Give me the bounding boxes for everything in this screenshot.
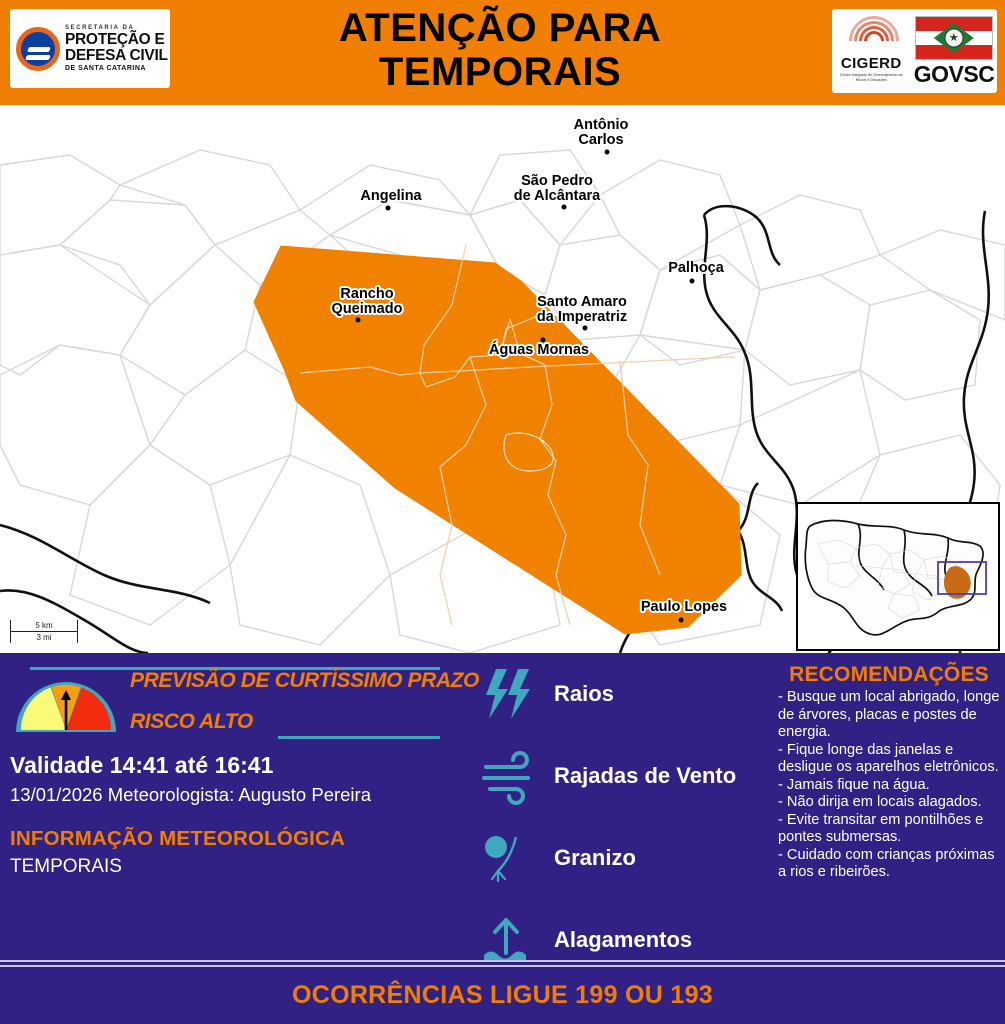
city-dot	[541, 338, 546, 343]
forecast-type-label: PREVISÃO DE CURTÍSSIMO PRAZO	[130, 669, 479, 693]
city-label: AntônioCarlos	[574, 118, 629, 148]
city-dot	[583, 326, 588, 331]
inset-locator-map	[796, 502, 1000, 651]
city-label: Angelina	[360, 189, 421, 204]
hazard-list: Raios Rajadas de Vento	[482, 667, 762, 995]
alert-area-polygon	[254, 246, 741, 634]
recommendation-item: - Não dirija em locais alagados.	[778, 794, 1000, 812]
city-label: São Pedrode Alcântara	[514, 174, 601, 204]
recommendation-item: - Jamais fique na água.	[778, 777, 1000, 795]
city-label: Águas Mornas	[489, 343, 589, 358]
city-label: Paulo Lopes	[641, 600, 727, 615]
page-title-line-1: ATENÇÃO PARA	[190, 6, 810, 50]
recommendations-title: RECOMENDAÇÕES	[778, 663, 1000, 687]
emergency-phone-text: OCORRÊNCIAS LIGUE 199 OU 193	[292, 981, 713, 1010]
recommendation-item: - Busque um local abrigado, longe de árv…	[778, 689, 1000, 742]
scale-km: 5 km	[11, 620, 77, 632]
defesa-civil-logo: SECRETARIA DA PROTEÇÃO E DEFESA CIVIL DE…	[10, 9, 170, 88]
city-dot	[356, 318, 361, 323]
logo-line-estado: DE SANTA CATARINA	[65, 65, 168, 72]
met-info-heading: INFORMAÇÃO METEOROLÓGICA	[10, 827, 345, 851]
hazard-label: Rajadas de Vento	[554, 763, 736, 789]
risk-underline	[278, 736, 440, 739]
govsc-text: GOVSC	[914, 63, 994, 86]
weather-alert-page: SECRETARIA DA PROTEÇÃO E DEFESA CIVIL DE…	[0, 0, 1005, 1024]
city-label: Palhoça	[668, 261, 724, 276]
page-title-line-2: TEMPORAIS	[190, 50, 810, 94]
hazard-label: Alagamentos	[554, 927, 692, 953]
validity-text: Validade 14:41 até 16:41	[10, 752, 273, 779]
recommendation-item: - Fique longe das janelas e desligue os …	[778, 742, 1000, 777]
recommendations-block: RECOMENDAÇÕES - Busque um local abrigado…	[778, 663, 1000, 882]
hazard-label: Granizo	[554, 845, 636, 871]
santa-catarina-flag-icon	[915, 16, 993, 60]
hazard-label: Raios	[554, 681, 614, 707]
hail-icon	[482, 831, 540, 887]
cigerd-waves-icon	[848, 19, 894, 53]
hazard-item-rajadas-de-vento: Rajadas de Vento	[482, 749, 762, 812]
govsc-logo: GOVSC	[914, 16, 994, 86]
meteorologist-text: 13/01/2026 Meteorologista: Augusto Perei…	[10, 784, 371, 806]
city-dot	[562, 205, 567, 210]
recommendation-item: - Evite transitar em pontilhões e pontes…	[778, 812, 1000, 847]
partner-logos: CIGERD Centro Integrado de Gerenciamento…	[832, 9, 997, 93]
scale-mi: 3 mi	[11, 632, 77, 643]
met-info-value: TEMPORAIS	[10, 856, 122, 878]
hazard-item-granizo: Granizo	[482, 831, 762, 894]
city-dot	[605, 150, 610, 155]
hazard-item-raios: Raios	[482, 667, 762, 730]
risk-gauge	[14, 679, 118, 734]
wind-icon	[482, 749, 540, 805]
city-dot	[386, 206, 391, 211]
alert-map[interactable]: AntônioCarlosSão Pedrode AlcântaraAngeli…	[0, 105, 1005, 653]
page-title: ATENÇÃO PARA TEMPORAIS	[190, 6, 810, 94]
lightning-icon	[482, 667, 540, 723]
recommendations-list: - Busque um local abrigado, longe de árv…	[778, 689, 1000, 882]
header-bar: SECRETARIA DA PROTEÇÃO E DEFESA CIVIL DE…	[0, 0, 1005, 105]
footer-divider	[0, 960, 1005, 967]
city-dot	[679, 618, 684, 623]
scale-bar: 5 km 3 mi	[10, 620, 78, 643]
cigerd-subtitle: Centro Integrado de Gerenciamento de Ris…	[835, 73, 907, 83]
info-panel: PREVISÃO DE CURTÍSSIMO PRAZO RISCO ALTO …	[0, 653, 1005, 960]
logo-line-defesa: DEFESA CIVIL	[65, 48, 168, 64]
cigerd-logo: CIGERD Centro Integrado de Gerenciamento…	[835, 19, 907, 83]
defesa-civil-emblem-icon	[16, 27, 60, 71]
risk-level-label: RISCO ALTO	[130, 710, 253, 734]
city-dot	[690, 279, 695, 284]
recommendation-item: - Cuidado com crianças próximas a rios e…	[778, 847, 1000, 882]
logo-line-protecao: PROTEÇÃO E	[65, 32, 168, 48]
footer-bar: OCORRÊNCIAS LIGUE 199 OU 193	[0, 967, 1005, 1024]
city-label: RanchoQueimado	[332, 287, 403, 317]
city-label: Santo Amaroda Imperatriz	[537, 295, 627, 325]
